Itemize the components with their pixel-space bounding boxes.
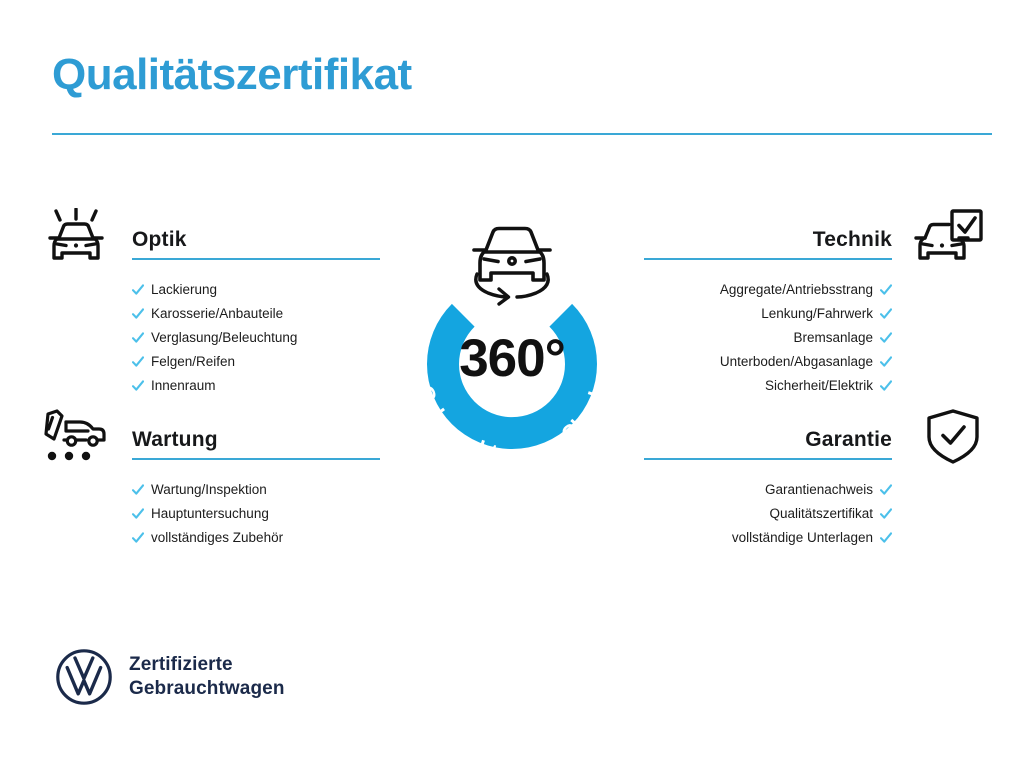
check-icon [132,508,144,520]
section-header: Technik [644,206,984,268]
list-item-label: Innenraum [151,374,216,398]
list-item: Felgen/Reifen [132,350,380,374]
check-icon [880,508,892,520]
check-icon [132,332,144,344]
footer-brand: Zertifizierte Gebrauchtwagen [55,648,285,706]
list-item: Verglasung/Beleuchtung [132,326,380,350]
check-icon [880,484,892,496]
car-checkbox-icon [900,206,984,268]
checklist-optik: Lackierung Karosserie/Anbauteile Verglas… [40,278,380,398]
list-item: Sicherheit/Elektrik [644,374,892,398]
check-icon [132,532,144,544]
list-item: Karosserie/Anbauteile [132,302,380,326]
header-divider [52,133,992,135]
list-item: Innenraum [132,374,380,398]
certificate-page: Qualitätszertifikat [0,0,1024,768]
footer-line-2: Gebrauchtwagen [129,677,285,701]
checklist-technik: Aggregate/Antriebsstrang Lenkung/Fahrwer… [644,278,984,398]
list-item-label: Felgen/Reifen [151,350,235,374]
check-icon [132,308,144,320]
list-item: vollständige Unterlagen [644,526,892,550]
list-item-label: Wartung/Inspektion [151,478,267,502]
car-rotate-icon [474,229,550,305]
checklist-wartung: Wartung/Inspektion Hauptuntersuchung vol… [40,478,380,550]
list-item-label: Aggregate/Antriebsstrang [720,278,873,302]
list-item: vollständiges Zubehör [132,526,380,550]
check-icon [880,284,892,296]
volkswagen-logo [55,648,113,706]
check-icon [880,308,892,320]
check-icon [880,332,892,344]
section-wartung: Wartung Wartung/Inspektion Hauptuntersuc… [40,406,380,550]
footer-line-1: Zertifizierte [129,653,285,677]
section-optik: Optik Lackierung Karosserie/Anbauteile [40,206,380,398]
footer-text: Zertifizierte Gebrauchtwagen [129,653,285,701]
list-item: Qualitätszertifikat [644,502,892,526]
check-icon [132,484,144,496]
list-item-label: Unterboden/Abgasanlage [720,350,873,374]
list-item-label: Karosserie/Anbauteile [151,302,283,326]
section-garantie: Garantie Garantienachweis Qualitätszerti… [644,406,984,550]
section-header: Garantie [644,406,984,468]
page-title: Qualitätszertifikat [52,52,412,98]
wrench-car-icon [40,406,124,468]
list-item: Unterboden/Abgasanlage [644,350,892,374]
check-icon [132,380,144,392]
list-item-label: Qualitätszertifikat [769,502,873,526]
check-icon [132,356,144,368]
check-icon [880,356,892,368]
list-item: Hauptuntersuchung [132,502,380,526]
list-item-label: vollständige Unterlagen [732,526,873,550]
list-item: Wartung/Inspektion [132,478,380,502]
section-title-technik: Technik [813,228,892,252]
section-underline [644,458,892,460]
list-item: Lenkung/Fahrwerk [644,302,892,326]
list-item: Bremsanlage [644,326,892,350]
list-item-label: Garantienachweis [765,478,873,502]
check-icon [880,380,892,392]
list-item-label: Verglasung/Beleuchtung [151,326,297,350]
car-front-lights-icon [40,206,124,268]
list-item-label: Bremsanlage [793,326,873,350]
section-underline [132,458,380,460]
section-header: Optik [40,206,380,268]
shield-check-icon [900,406,984,468]
list-item: Aggregate/Antriebsstrang [644,278,892,302]
list-item-label: Hauptuntersuchung [151,502,269,526]
section-header: Wartung [40,406,380,468]
section-underline [644,258,892,260]
checklist-garantie: Garantienachweis Qualitätszertifikat vol… [644,478,984,550]
list-item-label: Sicherheit/Elektrik [765,374,873,398]
check-icon [132,284,144,296]
list-item: Lackierung [132,278,380,302]
section-technik: Technik Aggregate/Antriebsstrang Lenkung… [644,206,984,398]
list-item-label: Lackierung [151,278,217,302]
check-icon [880,532,892,544]
badge-360-gebrauchtwagen-check: Gebrauchtwagen-Check 360° [381,196,643,486]
section-title-optik: Optik [132,228,187,252]
section-title-wartung: Wartung [132,428,218,452]
list-item: Garantienachweis [644,478,892,502]
badge-center-value: 360° [459,329,565,388]
list-item-label: vollständiges Zubehör [151,526,283,550]
list-item-label: Lenkung/Fahrwerk [761,302,873,326]
section-underline [132,258,380,260]
section-title-garantie: Garantie [805,428,892,452]
